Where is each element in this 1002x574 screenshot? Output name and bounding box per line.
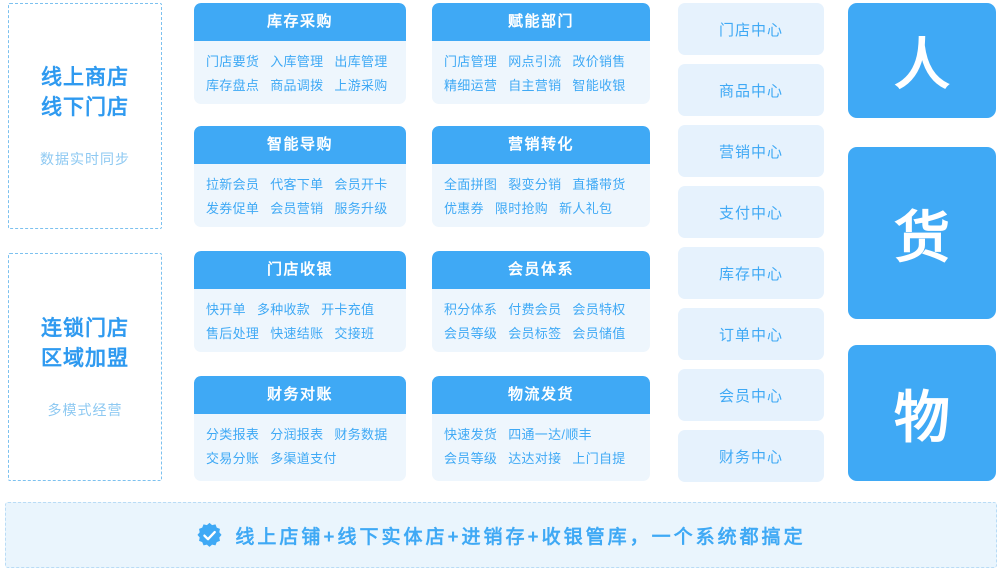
module-card-items: 快开单 多种收款 开卡充值 售后处理 快速结账 交接班 [194,289,406,352]
module-item[interactable]: 多种收款 [257,300,310,319]
segment-panel-chain-franchise: 连锁门店 区域加盟 多模式经营 [8,253,162,481]
module-card-row: 库存盘点 商品调拨 上游采购 [206,76,394,95]
module-item[interactable]: 分类报表 [206,425,259,444]
module-item[interactable]: 会员等级 [444,449,497,468]
pillar-label: 物 [894,373,950,454]
module-item[interactable]: 智能收银 [572,76,625,95]
module-item[interactable]: 直播带货 [572,175,625,194]
module-item[interactable]: 上门自提 [572,449,625,468]
pillar-label: 货 [894,193,950,274]
module-card-title: 物流发货 [432,376,650,414]
module-card-row: 门店管理 网点引流 改价销售 [444,52,638,71]
module-card-title: 营销转化 [432,126,650,164]
module-card-row: 快开单 多种收款 开卡充值 [206,300,394,319]
module-item[interactable]: 会员储值 [572,324,625,343]
module-card-row: 发券促单 会员营销 服务升级 [206,199,394,218]
pillar-label: 人 [894,20,950,101]
module-card-row: 会员等级 达达对接 上门自提 [444,449,638,468]
center-item-label: 商品中心 [719,80,783,101]
module-item[interactable]: 付费会员 [508,300,561,319]
module-item[interactable]: 售后处理 [206,324,259,343]
module-item[interactable]: 优惠券 [444,199,484,218]
module-item[interactable]: 会员等级 [444,324,497,343]
segment-subtitle: 数据实时同步 [40,149,130,169]
module-item[interactable]: 会员营销 [270,199,323,218]
module-item[interactable]: 代客下单 [270,175,323,194]
center-item-inventory[interactable]: 库存中心 [678,247,824,299]
module-card-row: 快速发货 四通一达/顺丰 [444,425,638,444]
module-card-items: 分类报表 分润报表 财务数据 交易分账 多渠道支付 [194,414,406,478]
module-item[interactable]: 上游采购 [334,76,387,95]
center-item-label: 订单中心 [719,324,783,345]
center-item-label: 库存中心 [719,263,783,284]
segment-title: 连锁门店 区域加盟 [41,314,129,374]
center-item-label: 财务中心 [719,446,783,467]
module-card-row: 售后处理 快速结账 交接班 [206,324,394,343]
module-card-items: 积分体系 付费会员 会员特权 会员等级 会员标签 会员储值 [432,289,650,352]
module-item[interactable]: 裂变分销 [508,175,561,194]
module-card-title: 智能导购 [194,126,406,164]
module-card-title: 库存采购 [194,3,406,41]
module-item[interactable]: 发券促单 [206,199,259,218]
module-item[interactable]: 会员标签 [508,324,561,343]
module-card-row: 精细运营 自主营销 智能收银 [444,76,638,95]
center-item-member[interactable]: 会员中心 [678,369,824,421]
module-card-row: 优惠券 限时抢购 新人礼包 [444,199,638,218]
module-item[interactable]: 达达对接 [508,449,561,468]
module-item[interactable]: 自主营销 [508,76,561,95]
module-card-inventory-purchase[interactable]: 库存采购 门店要货 入库管理 出库管理 库存盘点 商品调拨 上游采购 [194,3,406,104]
module-item[interactable]: 库存盘点 [206,76,259,95]
center-item-payment[interactable]: 支付中心 [678,186,824,238]
architecture-diagram: 线上商店 线下门店 数据实时同步 连锁门店 区域加盟 多模式经营 库存采购 门店… [0,0,1002,574]
module-card-title: 门店收银 [194,251,406,289]
module-item[interactable]: 新人礼包 [559,199,612,218]
module-card-row: 全面拼图 裂变分销 直播带货 [444,175,638,194]
module-item[interactable]: 会员特权 [572,300,625,319]
module-card-items: 拉新会员 代客下单 会员开卡 发券促单 会员营销 服务升级 [194,164,406,227]
module-item[interactable]: 分润报表 [270,425,323,444]
center-item-label: 支付中心 [719,202,783,223]
module-card-row: 会员等级 会员标签 会员储值 [444,324,638,343]
module-item[interactable]: 开卡充值 [321,300,374,319]
module-card-items: 快速发货 四通一达/顺丰 会员等级 达达对接 上门自提 [432,414,650,478]
module-item[interactable]: 全面拼图 [444,175,497,194]
center-item-label: 门店中心 [719,19,783,40]
module-item[interactable]: 门店要货 [206,52,259,71]
module-card-items: 门店管理 网点引流 改价销售 精细运营 自主营销 智能收银 [432,41,650,104]
pillar-block-goods[interactable]: 货 [848,147,996,319]
verified-badge-icon [196,522,223,549]
module-card-row: 门店要货 入库管理 出库管理 [206,52,394,71]
module-item[interactable]: 交接班 [334,324,374,343]
module-item[interactable]: 服务升级 [334,199,387,218]
module-card-row: 交易分账 多渠道支付 [206,449,394,468]
pillar-block-people[interactable]: 人 [848,3,996,118]
module-item[interactable]: 快速结账 [270,324,323,343]
center-item-order[interactable]: 订单中心 [678,308,824,360]
module-card-store-cashier[interactable]: 门店收银 快开单 多种收款 开卡充值 售后处理 快速结账 交接班 [194,251,406,352]
segment-subtitle: 多模式经营 [48,400,123,420]
footer-content: 线上店铺+线下实体店+进销存+收银管库，一个系统都搞定 [196,522,805,549]
center-item-store[interactable]: 门店中心 [678,3,824,55]
module-card-row: 积分体系 付费会员 会员特权 [444,300,638,319]
module-item[interactable]: 四通一达/顺丰 [508,425,592,444]
module-item[interactable]: 会员开卡 [334,175,387,194]
module-item[interactable]: 网点引流 [508,52,561,71]
module-card-items: 全面拼图 裂变分销 直播带货 优惠券 限时抢购 新人礼包 [432,164,650,227]
module-card-membership-system[interactable]: 会员体系 积分体系 付费会员 会员特权 会员等级 会员标签 会员储值 [432,251,650,352]
module-card-empower-department[interactable]: 赋能部门 门店管理 网点引流 改价销售 精细运营 自主营销 智能收银 [432,3,650,104]
module-item[interactable]: 积分体系 [444,300,497,319]
center-item-marketing[interactable]: 营销中心 [678,125,824,177]
module-item[interactable]: 快开单 [206,300,246,319]
module-card-title: 赋能部门 [432,3,650,41]
center-item-product[interactable]: 商品中心 [678,64,824,116]
footer-banner: 线上店铺+线下实体店+进销存+收银管库，一个系统都搞定 [5,502,997,568]
center-item-finance[interactable]: 财务中心 [678,430,824,482]
segment-title-line2: 区域加盟 [41,344,129,374]
segment-title-line2: 线下门店 [41,93,129,123]
segment-title-line1: 线上商店 [41,63,129,93]
module-item[interactable]: 财务数据 [334,425,387,444]
module-item[interactable]: 出库管理 [334,52,387,71]
module-card-row: 分类报表 分润报表 财务数据 [206,425,394,444]
module-card-title: 会员体系 [432,251,650,289]
module-item[interactable]: 入库管理 [270,52,323,71]
module-card-items: 门店要货 入库管理 出库管理 库存盘点 商品调拨 上游采购 [194,41,406,104]
module-item[interactable]: 拉新会员 [206,175,259,194]
pillar-block-logistics[interactable]: 物 [848,345,996,481]
module-card-smart-guide[interactable]: 智能导购 拉新会员 代客下单 会员开卡 发券促单 会员营销 服务升级 [194,126,406,227]
center-item-label: 会员中心 [719,385,783,406]
module-item[interactable]: 限时抢购 [495,199,548,218]
module-card-title: 财务对账 [194,376,406,414]
module-item[interactable]: 交易分账 [206,449,259,468]
module-card-marketing-conversion[interactable]: 营销转化 全面拼图 裂变分销 直播带货 优惠券 限时抢购 新人礼包 [432,126,650,227]
segment-title-line1: 连锁门店 [41,314,129,344]
module-item[interactable]: 快速发货 [444,425,497,444]
segment-panel-online-offline-store: 线上商店 线下门店 数据实时同步 [8,3,162,229]
footer-text: 线上店铺+线下实体店+进销存+收银管库，一个系统都搞定 [235,522,805,549]
module-item[interactable]: 商品调拨 [270,76,323,95]
center-item-label: 营销中心 [719,141,783,162]
module-item[interactable]: 改价销售 [572,52,625,71]
segment-title: 线上商店 线下门店 [41,63,129,123]
module-card-row: 拉新会员 代客下单 会员开卡 [206,175,394,194]
module-item[interactable]: 精细运营 [444,76,497,95]
module-item[interactable]: 门店管理 [444,52,497,71]
module-card-finance-reconciliation[interactable]: 财务对账 分类报表 分润报表 财务数据 交易分账 多渠道支付 [194,376,406,481]
module-item[interactable]: 多渠道支付 [270,449,337,468]
module-card-logistics-shipping[interactable]: 物流发货 快速发货 四通一达/顺丰 会员等级 达达对接 上门自提 [432,376,650,481]
